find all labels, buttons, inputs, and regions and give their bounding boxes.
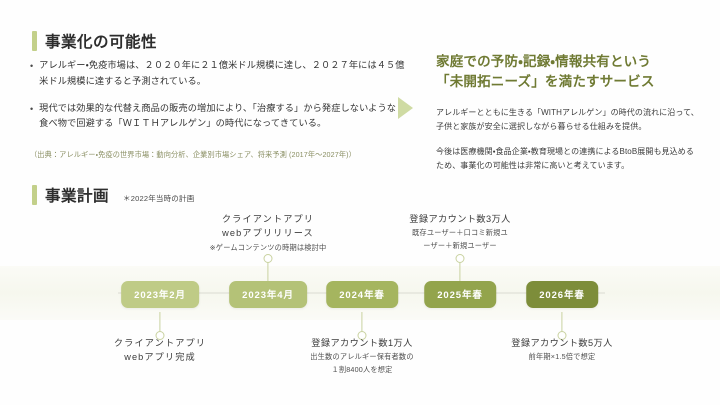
timeline-caption-main: webアプリ完成 bbox=[65, 350, 255, 364]
section-title-plan: 事業計画 bbox=[45, 184, 109, 206]
section-heading-possibility: 事業化の可能性 bbox=[32, 30, 157, 52]
timeline-caption-sub: 既存ユーザー＋口コミ新規ユ bbox=[365, 228, 555, 239]
right-panel-body-1: アレルギーとともに生きる「WITHアレルゲン」の時代の流れに沿って、子供と家族が… bbox=[436, 106, 701, 134]
bullet-dot-icon: • bbox=[30, 58, 33, 90]
timeline-caption-main: 登録アカウント数3万人 bbox=[365, 212, 555, 226]
section-heading-plan: 事業計画 ＊2022年当時の計画 bbox=[32, 184, 194, 206]
bullet-text: アレルギー・免疫市場は、２０２０年に２１億米ドル規模に達し、２０２７年には４５億… bbox=[39, 58, 405, 90]
slide-canvas: 事業化の可能性 • アレルギー・免疫市場は、２０２０年に２１億米ドル規模に達し、… bbox=[0, 0, 720, 405]
section-title-possibility: 事業化の可能性 bbox=[45, 30, 157, 52]
possibility-bullet-list: • アレルギー・免疫市場は、２０２０年に２１億米ドル規模に達し、２０２７年には４… bbox=[30, 58, 405, 143]
timeline-caption-sub: 前年期×1.5倍で想定 bbox=[467, 352, 657, 363]
bullet-text: 現代では効果的な代替え商品の販売の増加により、「治療する」から発症しないような食… bbox=[39, 101, 405, 133]
right-panel-title-line2: 「未開拓ニーズ」を満たすサービス bbox=[436, 72, 701, 92]
timeline-caption-sub: 出生数のアレルギー保有者数の bbox=[267, 352, 457, 363]
timeline-caption-main: 登録アカウント数1万人 bbox=[267, 336, 457, 350]
section-note-plan: ＊2022年当時の計画 bbox=[123, 193, 194, 206]
timeline-connector-dot-icon bbox=[264, 254, 273, 263]
timeline-caption-sub: ーザー＋新規ユーザー bbox=[365, 241, 555, 252]
timeline-connector-dot-icon bbox=[456, 254, 465, 263]
source-citation: （出典：アレルギー・免疫の世界市場：動向分析、企業別市場シェア、将来予測 (20… bbox=[30, 150, 356, 160]
timeline-pill-5[interactable]: 2026年春 bbox=[526, 281, 598, 308]
timeline-caption-4: 登録アカウント数3万人既存ユーザー＋口コミ新規ユーザー＋新規ユーザー bbox=[365, 212, 555, 252]
timeline-caption-sub: １割8400人を想定 bbox=[267, 365, 457, 376]
accent-bar-icon bbox=[32, 185, 37, 205]
list-item: • アレルギー・免疫市場は、２０２０年に２１億米ドル規模に達し、２０２７年には４… bbox=[30, 58, 405, 90]
accent-bar-icon bbox=[32, 31, 37, 51]
right-panel-title: 家庭での予防・記録・情報共有という 「未開拓ニーズ」を満たすサービス bbox=[436, 52, 701, 93]
right-summary-panel: 家庭での予防・記録・情報共有という 「未開拓ニーズ」を満たすサービス アレルギー… bbox=[436, 52, 701, 173]
timeline-caption-5: 登録アカウント数5万人前年期×1.5倍で想定 bbox=[467, 336, 657, 363]
timeline-pill-3[interactable]: 2024年春 bbox=[326, 281, 398, 308]
timeline-caption-main: 登録アカウント数5万人 bbox=[467, 336, 657, 350]
right-panel-title-line1: 家庭での予防・記録・情報共有という bbox=[436, 52, 701, 72]
list-item: • 現代では効果的な代替え商品の販売の増加により、「治療する」から発症しないよう… bbox=[30, 101, 405, 133]
timeline-caption-main: webアプリリリース bbox=[173, 226, 363, 240]
bullet-dot-icon: • bbox=[30, 101, 33, 133]
timeline-caption-main: クライアントアプリ bbox=[65, 336, 255, 350]
timeline-pill-2[interactable]: 2023年4月 bbox=[229, 281, 307, 308]
timeline-pill-4[interactable]: 2025年春 bbox=[424, 281, 496, 308]
timeline-caption-3: 登録アカウント数1万人出生数のアレルギー保有者数の１割8400人を想定 bbox=[267, 336, 457, 376]
timeline-caption-main: クライアントアプリ bbox=[173, 212, 363, 226]
timeline-caption-1: クライアントアプリwebアプリ完成 bbox=[65, 336, 255, 365]
right-triangle-arrow-icon bbox=[398, 97, 413, 119]
timeline-caption-2: クライアントアプリwebアプリリリース※ゲームコンテンツの時期は検討中 bbox=[173, 212, 363, 253]
timeline-caption-sub: ※ゲームコンテンツの時期は検討中 bbox=[173, 243, 363, 254]
timeline-pill-1[interactable]: 2023年2月 bbox=[121, 281, 199, 308]
right-panel-body-2: 今後は医療機関・食品企業・教育現場との連携によるBtoB展開も見込めるため、事業… bbox=[436, 145, 701, 173]
